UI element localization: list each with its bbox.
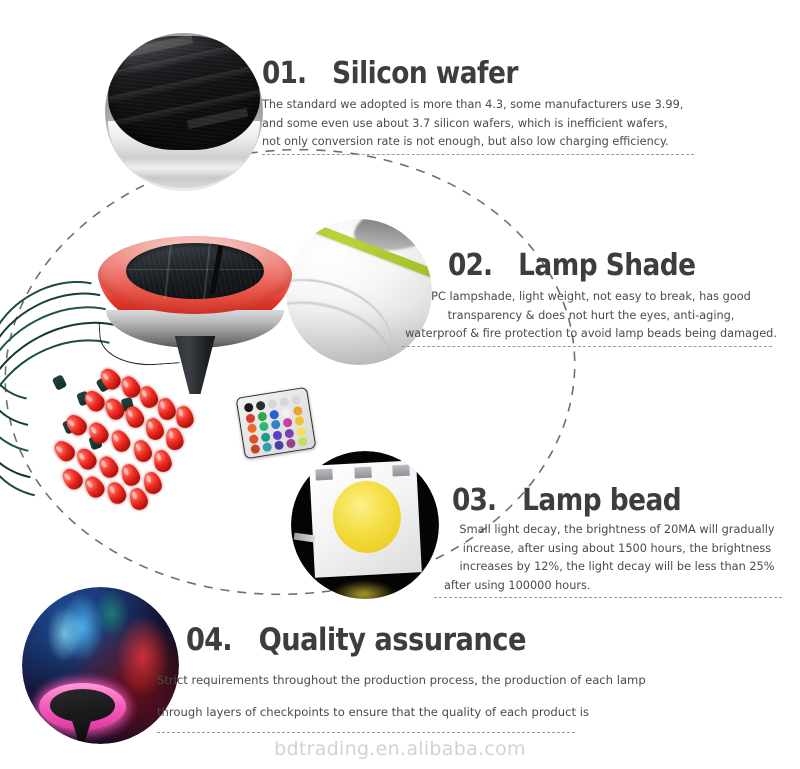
photo-silicon-wafer [105, 33, 263, 191]
section-body-03: Small light decay, the brightness of 20M… [434, 521, 800, 595]
body-line: not only conversion rate is not enough, … [262, 133, 707, 152]
section-heading-04: Quality assurance [259, 622, 526, 658]
bead-chip-body [309, 460, 421, 578]
hero-cable [98, 317, 179, 368]
section-heading-02: Lamp Shade [518, 248, 695, 283]
body-line: Strict requirements throughout the produ… [157, 664, 726, 696]
qa-solar-panel [50, 689, 114, 722]
section-divider-02 [402, 346, 772, 347]
bead-light-glow [332, 581, 394, 599]
rgb-remote-control [236, 387, 317, 459]
section-number-04: 04. [186, 622, 232, 658]
hero-ground-stake [172, 336, 218, 394]
section-body-01: The standard we adopted is more than 4.3… [262, 96, 707, 152]
photo-quality-assurance [22, 587, 179, 744]
section-title-02: 02. Lamp Shade [448, 248, 756, 283]
body-line: increases by 12%, the light decay will b… [434, 558, 800, 577]
body-line: Small light decay, the brightness of 20M… [434, 521, 800, 540]
section-heading-03: Lamp bead [522, 483, 681, 518]
body-line: increase, after using about 1500 hours, … [434, 540, 800, 559]
section-lamp-shade: 02. Lamp Shade PC lampshade, light weigh… [448, 248, 798, 347]
hero-solar-garden-light [92, 236, 298, 386]
section-title-03: 03. Lamp bead [452, 483, 758, 518]
bead-phosphor-dome [331, 479, 403, 554]
section-divider-01 [262, 154, 694, 155]
section-body-04: Strict requirements throughout the produ… [157, 664, 726, 728]
section-number-02: 02. [448, 248, 492, 283]
body-line: waterproof & fire protection to avoid la… [382, 325, 800, 344]
section-number-03: 03. [452, 483, 496, 518]
section-divider-04 [157, 732, 575, 733]
section-number-01: 01. [262, 56, 306, 91]
infographic-canvas: 01. Silicon wafer The standard we adopte… [0, 0, 800, 769]
photo-lamp-bead [291, 451, 439, 599]
body-line: PC lampshade, light weight, not easy to … [382, 288, 800, 307]
body-line: after using 100000 hours. [434, 577, 800, 596]
body-line: The standard we adopted is more than 4.3… [262, 96, 707, 115]
watermark-text: bdtrading.en.alibaba.com [0, 738, 800, 760]
remote-button-grid [244, 395, 309, 454]
body-line: through layers of checkpoints to ensure … [157, 696, 726, 728]
section-title-04: 04. Quality assurance [186, 622, 661, 658]
section-silicon-wafer: 01. Silicon wafer The standard we adopte… [262, 56, 707, 155]
section-lamp-bead: 03. Lamp bead Small light decay, the bri… [452, 483, 800, 598]
section-divider-03 [434, 597, 782, 598]
section-body-02: PC lampshade, light weight, not easy to … [382, 288, 800, 344]
hero-solar-panel [126, 243, 264, 299]
section-title-01: 01. Silicon wafer [262, 56, 654, 91]
body-line: and some even use about 3.7 silicon wafe… [262, 115, 707, 134]
section-quality-assurance: 04. Quality assurance Strict requirement… [186, 622, 726, 733]
body-line: transparency & does not hurt the eyes, a… [382, 307, 800, 326]
section-heading-01: Silicon wafer [332, 56, 518, 91]
